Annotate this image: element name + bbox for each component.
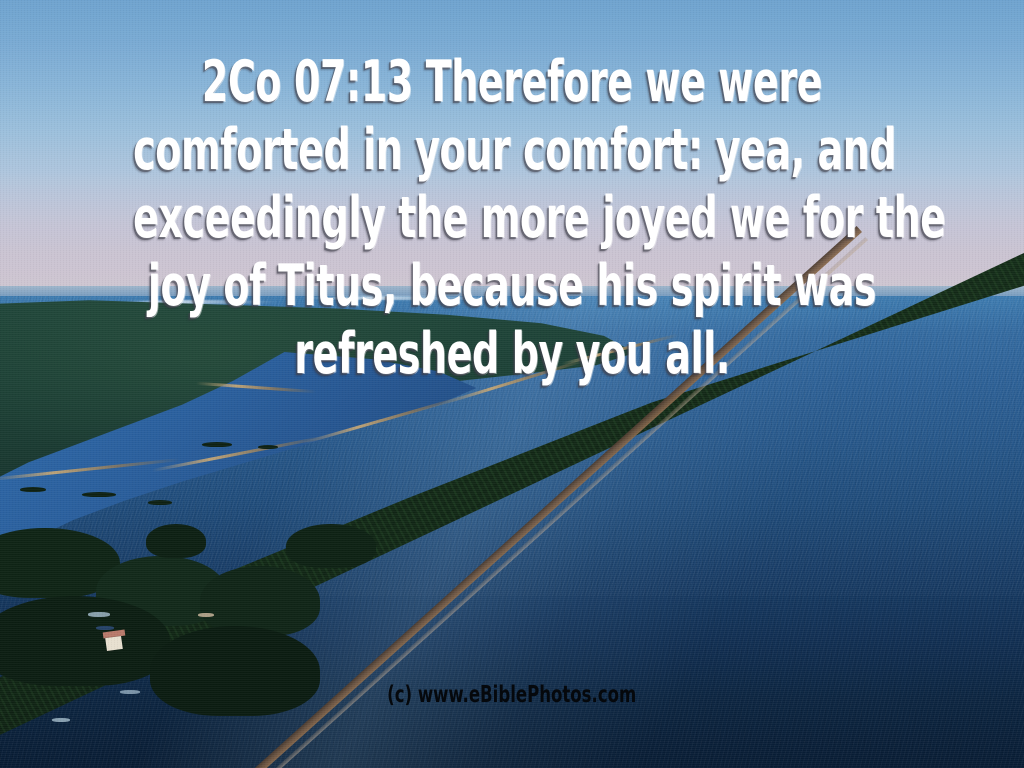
photograph [0,0,1024,768]
tree-headland [146,524,206,558]
boat [96,626,114,630]
tree-headland [150,626,320,716]
boat [88,612,110,617]
tree-headland [286,524,376,568]
boat [198,613,214,617]
boat [120,690,140,694]
verse-photo-canvas: 2Co 07:13 Therefore we were comforted in… [0,0,1024,768]
boat [52,718,70,722]
white-house [105,636,123,651]
tree-headland [0,596,170,686]
tree-headland [200,566,320,636]
